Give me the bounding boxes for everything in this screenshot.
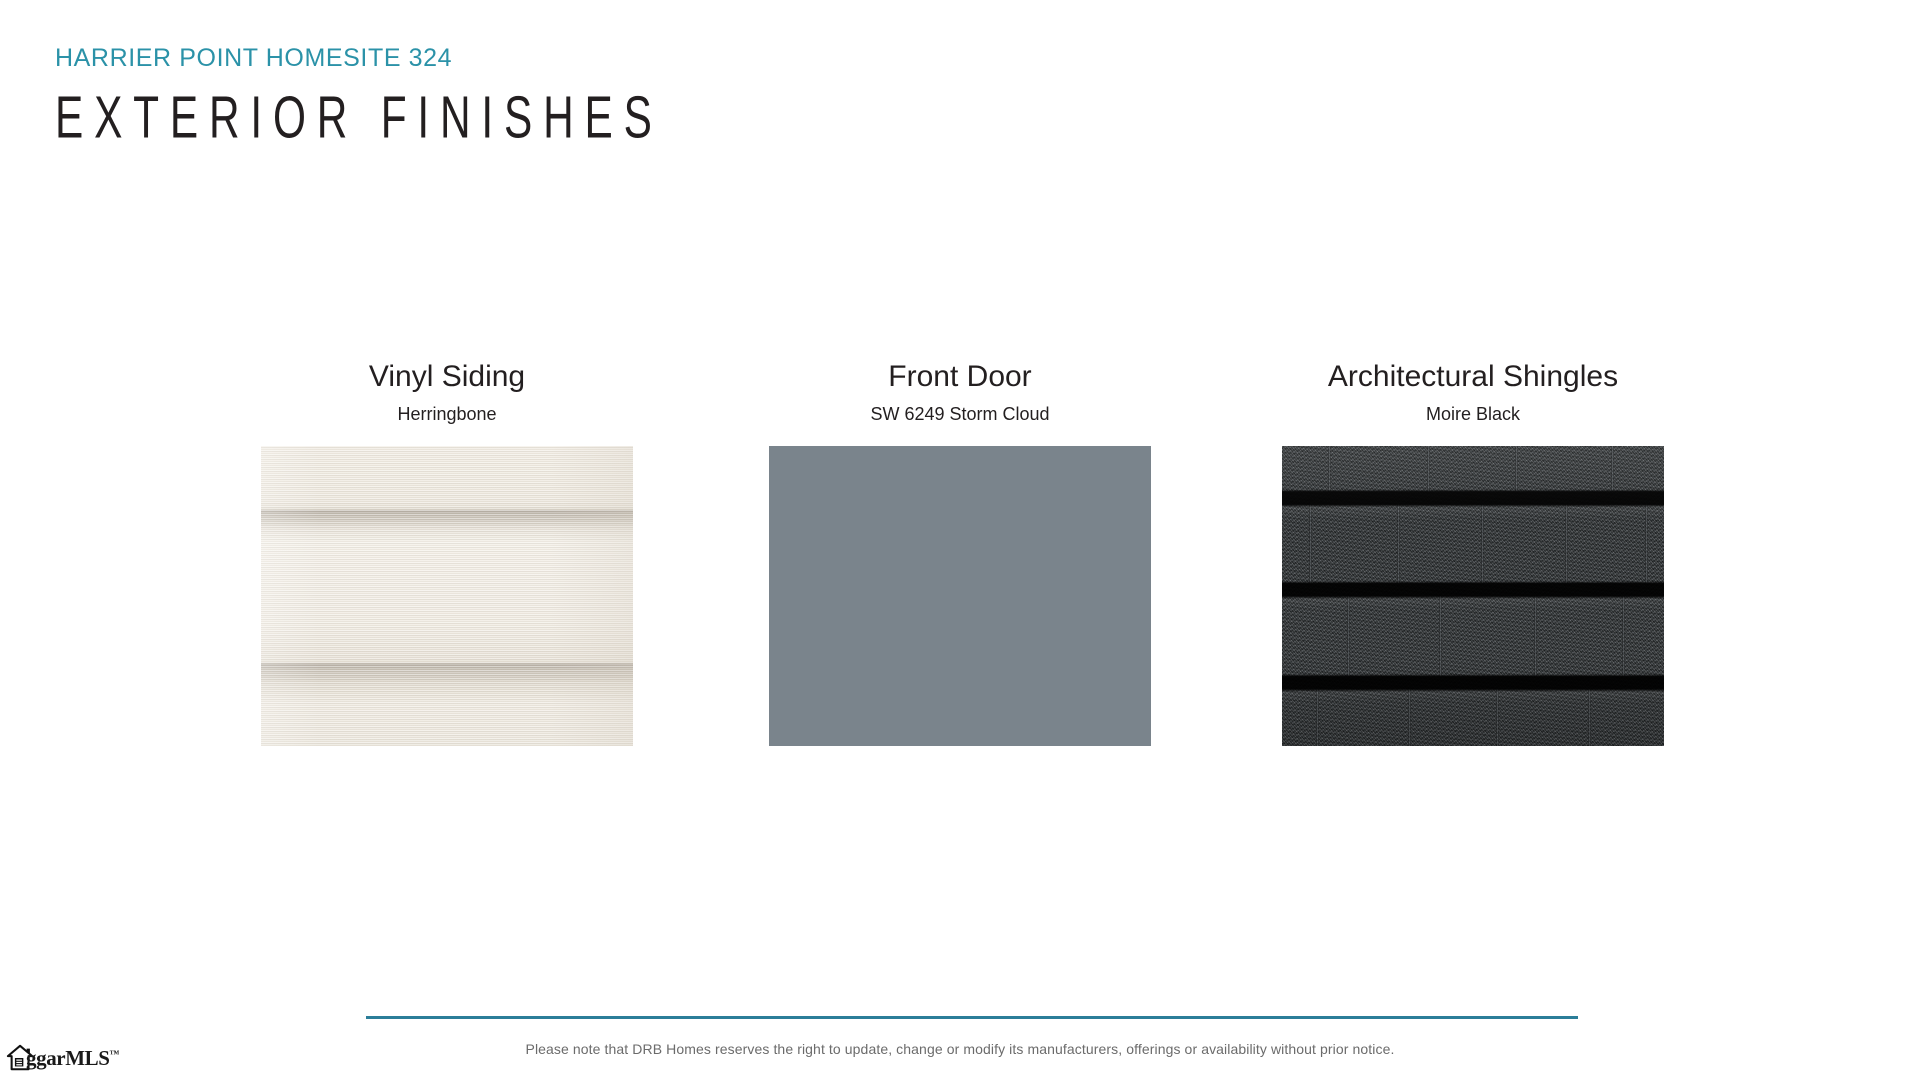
disclaimer-text: Please note that DRB Homes reserves the … bbox=[0, 1041, 1920, 1057]
siding-edge-shading bbox=[261, 446, 633, 746]
finish-card-vinyl-siding: Vinyl Siding Herringbone bbox=[191, 360, 704, 746]
finish-card-front-door: Front Door SW 6249 Storm Cloud bbox=[704, 360, 1217, 746]
shingle-vignette bbox=[1282, 446, 1664, 746]
swatch-architectural-shingles bbox=[1282, 446, 1664, 746]
finish-card-title: Front Door bbox=[888, 360, 1031, 393]
page-title: EXTERIOR FINISHES bbox=[55, 88, 775, 147]
page-header: HARRIER POINT HOMESITE 324 EXTERIOR FINI… bbox=[55, 46, 955, 141]
finish-card-subtitle: Moire Black bbox=[1426, 405, 1520, 425]
finish-card-subtitle: Herringbone bbox=[397, 405, 496, 425]
finish-card-architectural-shingles: Architectural Shingles Moire Black bbox=[1217, 360, 1730, 746]
finish-cards-row: Vinyl Siding Herringbone Front Door SW 6… bbox=[0, 360, 1920, 746]
swatch-vinyl-siding bbox=[261, 446, 633, 746]
footer-divider bbox=[366, 1016, 1578, 1019]
homesite-eyebrow: HARRIER POINT HOMESITE 324 bbox=[55, 46, 955, 71]
mls-watermark-text: ggarMLS bbox=[26, 1046, 110, 1070]
swatch-front-door-color bbox=[769, 446, 1151, 746]
finish-card-title: Architectural Shingles bbox=[1328, 360, 1618, 393]
trademark-symbol: ™ bbox=[110, 1049, 120, 1060]
finish-card-title: Vinyl Siding bbox=[369, 360, 525, 393]
finish-card-subtitle: SW 6249 Storm Cloud bbox=[870, 405, 1049, 425]
mls-watermark-label: ggarMLS™ bbox=[26, 1048, 119, 1069]
mls-watermark: ggarMLS™ bbox=[6, 1043, 126, 1077]
